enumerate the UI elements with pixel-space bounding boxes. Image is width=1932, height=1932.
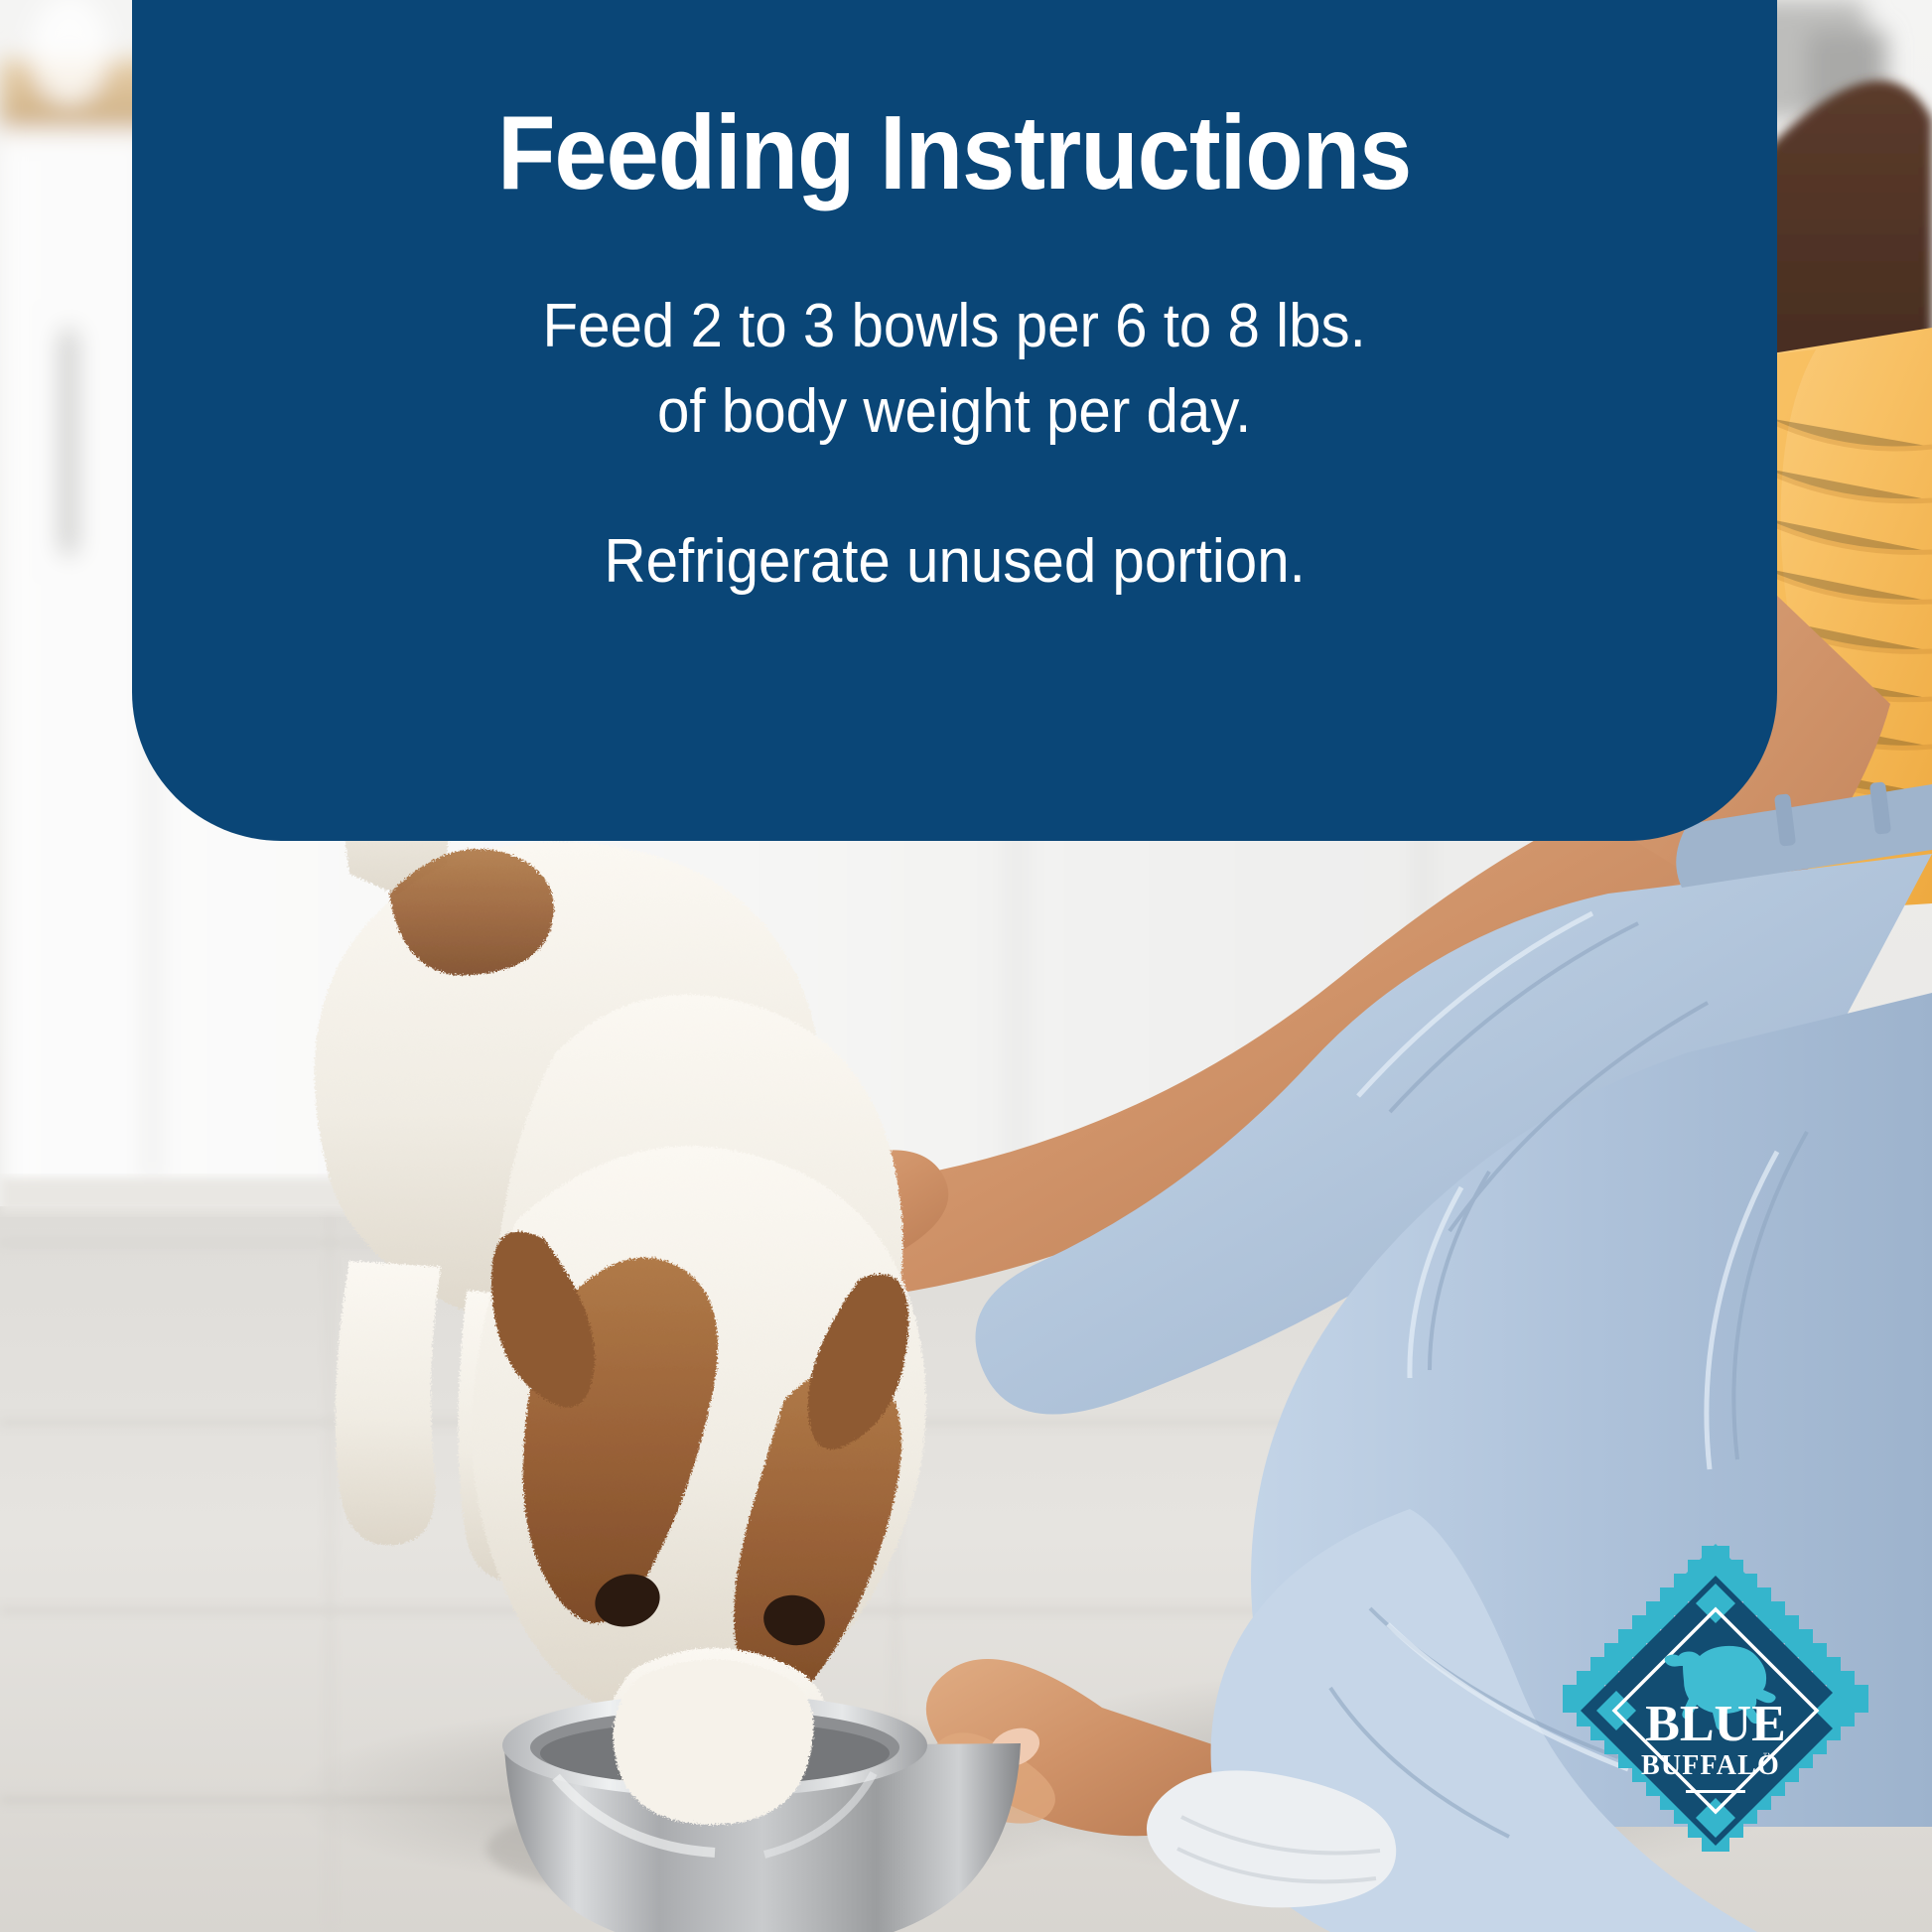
poster-canvas: Feeding Instructions Feed 2 to 3 bowls p…: [0, 0, 1932, 1932]
feeding-amount-text: Feed 2 to 3 bowls per 6 to 8 lbs. of bod…: [516, 284, 1392, 454]
logo-wordmark-buffalo: BUFFALO: [1641, 1750, 1780, 1781]
feeding-instructions-panel: Feeding Instructions Feed 2 to 3 bowls p…: [132, 0, 1777, 841]
page-title: Feeding Instructions: [497, 99, 1411, 207]
storage-instruction-text: Refrigerate unused portion.: [604, 519, 1305, 605]
logo-wordmark-blue: BLUE: [1645, 1696, 1786, 1752]
logo-trademark: ™: [1763, 1751, 1774, 1763]
logo-rule: [1686, 1790, 1745, 1793]
blue-buffalo-logo: BLUE BUFFALO ™: [1541, 1536, 1890, 1885]
feeding-amount-line-1: Feed 2 to 3 bowls per 6 to 8 lbs.: [543, 284, 1366, 369]
feeding-amount-line-2: of body weight per day.: [543, 369, 1366, 455]
